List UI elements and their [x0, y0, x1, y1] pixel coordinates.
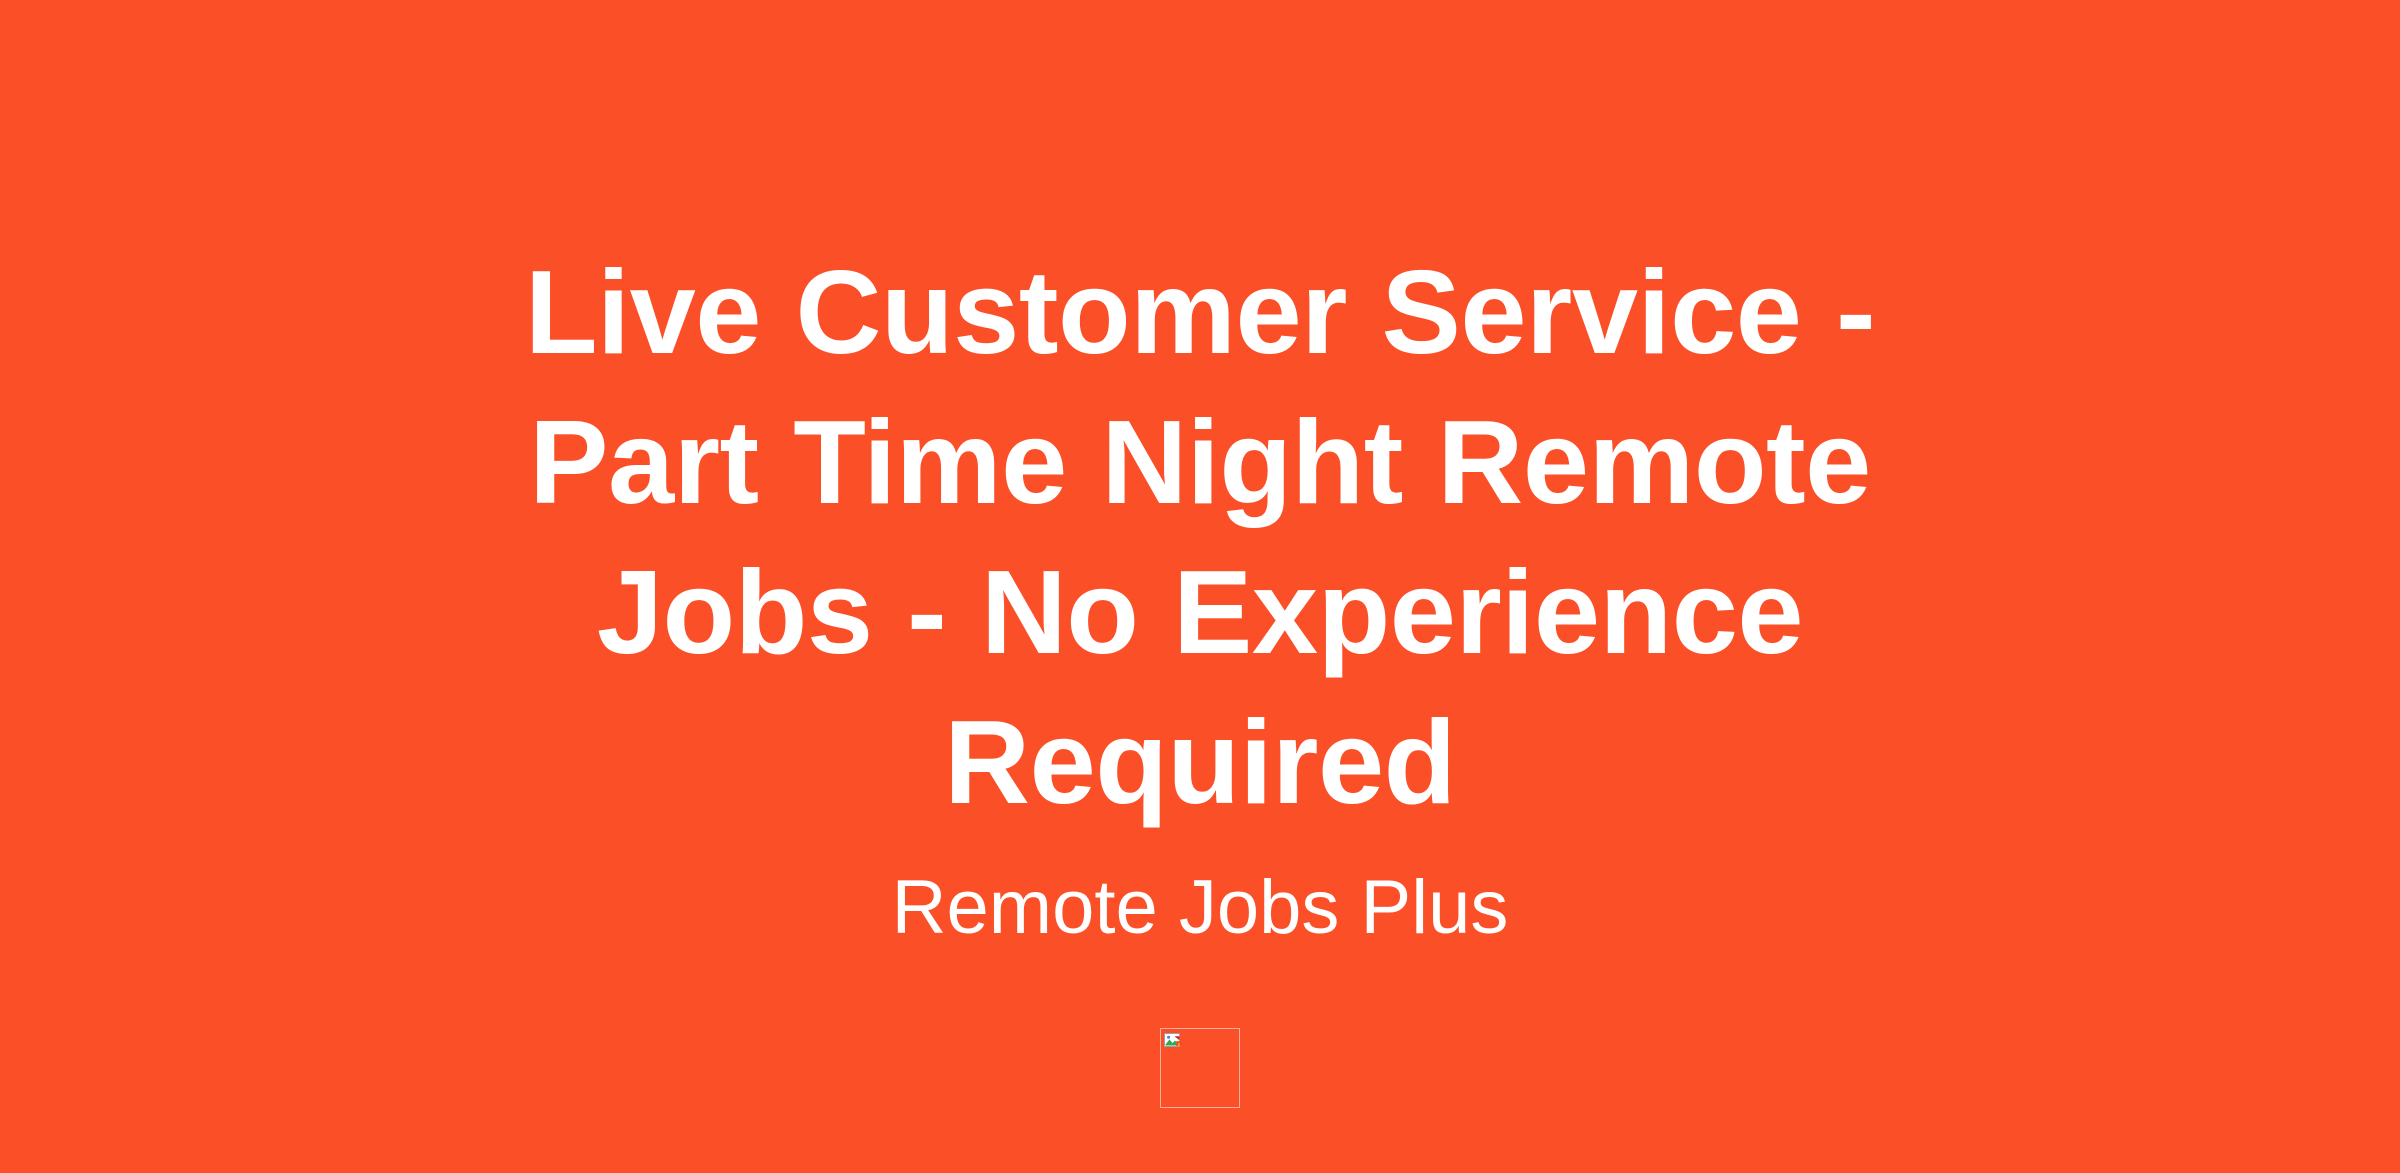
page-root: Live Customer Service - Part Time Night … — [0, 0, 2400, 1173]
broken-image-placeholder[interactable] — [1160, 1028, 1240, 1108]
page-subtitle: Remote Jobs Plus — [0, 862, 2400, 954]
broken-image-icon — [1164, 1032, 1183, 1051]
page-title: Live Customer Service - Part Time Night … — [0, 238, 2400, 838]
hero-section: Live Customer Service - Part Time Night … — [0, 0, 2400, 954]
site-logo-slot[interactable] — [1160, 1028, 1240, 1108]
